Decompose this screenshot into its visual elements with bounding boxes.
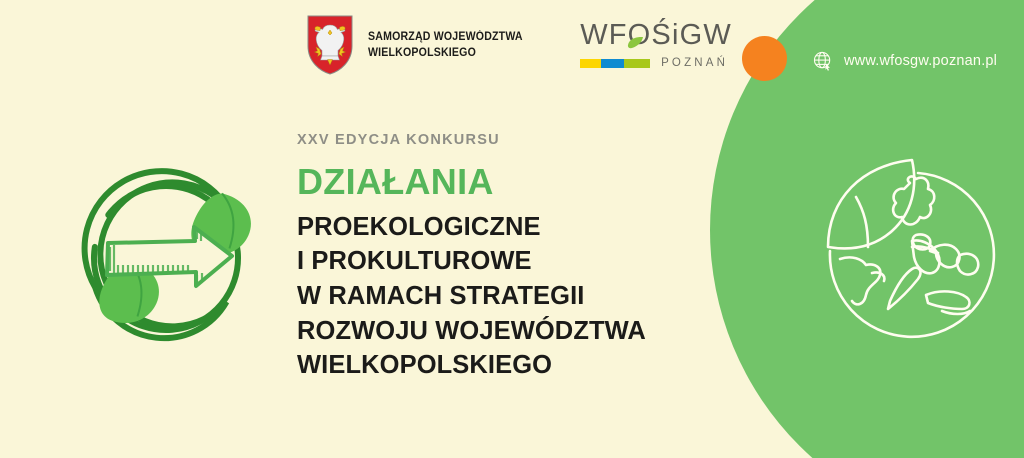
wfosigw-city-label: POZNAŃ: [661, 57, 728, 69]
headline-kicker: XXV EDYCJA KONKURSU: [297, 132, 717, 148]
headline-line-3: W RAMACH STRATEGII: [297, 279, 717, 314]
samorzad-line-1: SAMORZĄD WOJEWÓDZTWA: [368, 31, 523, 43]
wfosigw-wordmark: WFOŚiGW: [580, 19, 732, 51]
leaf-icon: [627, 36, 644, 49]
website-link[interactable]: www.wfosgw.poznan.pl: [812, 50, 997, 72]
globe-cursor-icon: [812, 50, 834, 72]
headline-line-1: PROEKOLOGICZNE: [297, 210, 717, 245]
recycle-leaf-arrow-icon: [60, 165, 272, 351]
color-bar-green: [624, 59, 650, 68]
headline-line-4: ROZWOJU WOJEWÓDZTWA: [297, 314, 717, 349]
headline-line-5: WIELKOPOLSKIEGO: [297, 348, 717, 383]
wfosigw-sublogo: POZNAŃ: [580, 57, 728, 69]
color-bar-yellow: [580, 59, 601, 68]
headline-lines: PROEKOLOGICZNE I PROKULTUROWE W RAMACH S…: [297, 210, 717, 383]
website-url-text: www.wfosgw.poznan.pl: [844, 53, 997, 69]
headline-highlight: DZIAŁANIA: [297, 164, 717, 201]
samorzad-wordmark: SAMORZĄD WOJEWÓDZTWA WIELKOPOLSKIEGO: [368, 29, 523, 62]
polish-eagle-crest-icon: [306, 14, 354, 76]
orange-dot-accent: [742, 36, 787, 81]
wfosigw-color-bars: [580, 59, 650, 68]
samorzad-line-2: WIELKOPOLSKIEGO: [368, 47, 476, 59]
headline-line-2: I PROKULTUROWE: [297, 244, 717, 279]
wfosigw-logo: WFOŚiGW POZNAŃ: [580, 21, 728, 69]
headline-block: XXV EDYCJA KONKURSU DZIAŁANIA PROEKOLOGI…: [297, 132, 717, 383]
logo-lockup: SAMORZĄD WOJEWÓDZTWA WIELKOPOLSKIEGO WFO…: [306, 14, 728, 76]
globe-leaf-illustration: [812, 155, 1012, 355]
color-bar-blue: [601, 59, 624, 68]
banner: www.wfosgw.poznan.pl: [0, 0, 1024, 458]
